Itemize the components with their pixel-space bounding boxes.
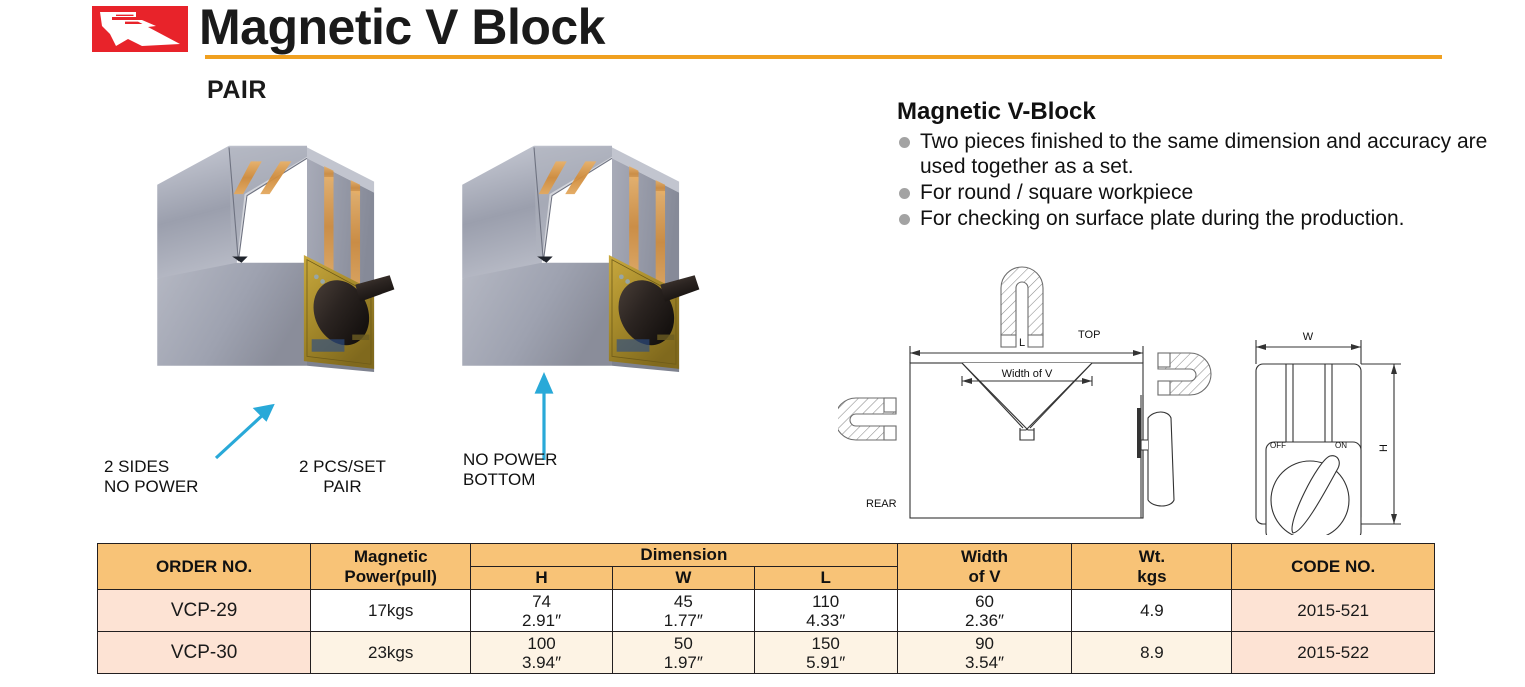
eagle-head-logo-icon [92,6,188,52]
magnet-symbol-left [838,398,896,440]
cell-l: 110 4.33″ [754,590,897,632]
product-photo-left [157,146,394,372]
feature-text: Two pieces finished to the same dimensio… [920,130,1487,178]
page-title: Magnetic V Block [199,0,605,56]
label-length: L [1019,337,1025,349]
feature-text: For round / square workpiece [920,181,1193,204]
callout-right-line2: BOTTOM [463,470,557,490]
callout-arrow-right [537,376,551,460]
cell-magnetic-power: 23kgs [311,632,471,674]
table-header: ORDER NO. Magnetic Power(pull) Dimension… [98,544,1435,590]
callout-arrow-left [216,406,272,458]
table-body: VCP-29 17kgs 74 2.91″ 45 1.77″ 110 4.33″… [98,590,1435,674]
callout-left-line2: NO POWER [104,477,198,497]
dimension-H [1361,364,1401,524]
cell-h-in: 3.94″ [471,653,612,672]
callout-center-line1: 2 PCS/SET [299,457,386,477]
callout-right: NO POWER BOTTOM [463,450,557,490]
cell-l: 150 5.91″ [754,632,897,674]
feature-item: Two pieces finished to the same dimensio… [897,129,1497,179]
header-magnetic-power-l1: Magnetic [354,547,428,566]
cell-w-mm: 45 [613,592,754,611]
callout-left-line1: 2 SIDES [104,457,198,477]
header-w: W [612,567,754,590]
cell-magnetic-power: 17kgs [311,590,471,632]
cell-h: 100 3.94″ [471,632,613,674]
table-header-row-1: ORDER NO. Magnetic Power(pull) Dimension… [98,544,1435,567]
product-photo-right [462,146,699,372]
cell-w: 50 1.97″ [612,632,754,674]
header-l: L [754,567,897,590]
cell-h-mm: 100 [471,634,612,653]
cell-w-in: 1.77″ [613,611,754,630]
cell-l-mm: 150 [755,634,897,653]
page-subtitle: PAIR [207,76,267,105]
front-view [910,363,1143,518]
cell-weight: 8.9 [1072,632,1232,674]
cell-v-mm: 90 [898,634,1072,653]
feature-text: For checking on surface plate during the… [920,207,1404,230]
features-list: Two pieces finished to the same dimensio… [897,129,1497,231]
header-width-of-v-l1: Width [961,547,1008,566]
bullet-icon [899,214,910,225]
features-heading: Magnetic V-Block [897,98,1497,126]
cell-width-of-v: 60 2.36″ [897,590,1072,632]
cell-h: 74 2.91″ [471,590,613,632]
header-dimension: Dimension [471,544,897,567]
label-rear: REAR [866,498,897,510]
table-row: VCP-29 17kgs 74 2.91″ 45 1.77″ 110 4.33″… [98,590,1435,632]
cell-code-no: 2015-521 [1232,590,1435,632]
cell-l-in: 5.91″ [755,653,897,672]
header-h: H [471,567,613,590]
cell-v-in: 3.54″ [898,653,1072,672]
callout-left: 2 SIDES NO POWER [104,457,198,497]
cell-l-in: 4.33″ [755,611,897,630]
label-switch-off: OFF [1270,441,1286,450]
cell-w: 45 1.77″ [612,590,754,632]
header-code-no: CODE NO. [1232,544,1435,590]
header-width-of-v: Width of V [897,544,1072,590]
magnet-symbol-top [1001,267,1043,347]
feature-item: For round / square workpiece [897,180,1497,205]
callout-center-line2: PAIR [299,477,386,497]
label-top: TOP [1078,329,1100,341]
table-row: VCP-30 23kgs 100 3.94″ 50 1.97″ 150 5.91… [98,632,1435,674]
cell-weight: 4.9 [1072,590,1232,632]
header-magnetic-power: Magnetic Power(pull) [311,544,471,590]
cell-order-no: VCP-30 [98,632,311,674]
page-header: Magnetic V Block PAIR [0,0,1525,62]
cell-w-mm: 50 [613,634,754,653]
cell-l-mm: 110 [755,592,897,611]
header-magnetic-power-l2: Power(pull) [344,567,437,586]
title-divider [205,55,1442,59]
cell-width-of-v: 90 3.54″ [897,632,1072,674]
callout-right-line1: NO POWER [463,450,557,470]
magnet-symbol-right [1158,353,1211,395]
features-panel: Magnetic V-Block Two pieces finished to … [897,98,1497,232]
header-weight-l2: kgs [1137,567,1166,586]
header-weight: Wt. kgs [1072,544,1232,590]
label-height: H [1378,444,1390,452]
cell-order-no: VCP-29 [98,590,311,632]
cell-v-in: 2.36″ [898,611,1072,630]
technical-drawing: TOP L [838,250,1478,535]
label-width-of-v: Width of V [1002,368,1053,380]
cell-h-mm: 74 [471,592,612,611]
cell-code-no: 2015-522 [1232,632,1435,674]
callout-center: 2 PCS/SET PAIR [299,457,386,497]
header-order-no: ORDER NO. [98,544,311,590]
cell-v-mm: 60 [898,592,1072,611]
cell-h-in: 2.91″ [471,611,612,630]
bullet-icon [899,137,910,148]
header-width-of-v-l2: of V [968,567,1000,586]
label-width: W [1303,331,1314,343]
cell-w-in: 1.97″ [613,653,754,672]
bullet-icon [899,188,910,199]
header-weight-l1: Wt. [1139,547,1165,566]
dimension-W [1256,340,1361,364]
dimension-L [910,346,1143,363]
feature-item: For checking on surface plate during the… [897,206,1497,231]
product-photo-group: 2 SIDES NO POWER 2 PCS/SET PAIR NO POWER… [96,120,886,520]
label-switch-on: ON [1335,441,1347,450]
specification-table: ORDER NO. Magnetic Power(pull) Dimension… [97,543,1435,674]
